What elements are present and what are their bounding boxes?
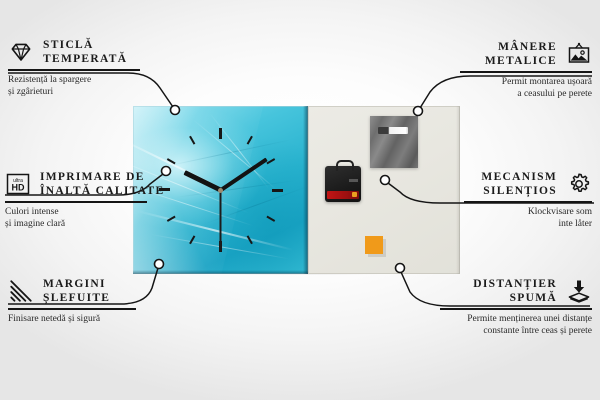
callout-sub-line2: și imagine clară (5, 218, 147, 231)
callout-head: STICLĂ TEMPERATĂ (8, 38, 140, 66)
callout-subtext: Klockvisare som inte låter (464, 206, 592, 231)
callout-sub-line2: inte låter (464, 218, 592, 231)
callout-title: MÂNERE METALICE (485, 40, 557, 68)
hanger-slot (378, 127, 408, 134)
foam-spacer-pad (365, 236, 383, 254)
callout-title-line1: DISTANȚIER (440, 277, 557, 291)
callout-sub-line1: Culori intense (5, 206, 147, 219)
callout-title: IMPRIMARE DE ÎNALTĂ CALITATE (40, 170, 164, 198)
callout-divider (460, 71, 592, 73)
callout-title-line1: STICLĂ (43, 38, 127, 52)
callout-title-line1: MARGINI (43, 277, 110, 291)
hanging-picture-frame-icon (566, 41, 592, 67)
callout-head: MECANISM SILENȚIOS (464, 170, 592, 198)
clock-movement (325, 166, 361, 202)
callout-sub-line1: Permite menținerea unei distanțe (440, 313, 592, 326)
callout-title-line1: IMPRIMARE DE (40, 170, 164, 184)
product-photo (133, 106, 460, 274)
callout-tempered-glass: STICLĂ TEMPERATĂ Rezistență la spargere … (8, 38, 140, 99)
callout-head: MARGINI ȘLEFUITE (8, 277, 136, 305)
callout-subtext: Permite menținerea unei distanțe constan… (440, 313, 592, 338)
callout-polished-edges: MARGINI ȘLEFUITE Finisare netedă și sigu… (8, 277, 136, 325)
battery (327, 191, 359, 199)
clock-center-cap (218, 188, 223, 193)
callout-silent-mechanism: MECANISM SILENȚIOS Klockvisare som inte … (464, 170, 592, 231)
down-arrow-onto-pad-icon (566, 278, 592, 304)
callout-title-line2: SPUMĂ (440, 291, 557, 305)
ultra-hd-icon: ultra HD (5, 171, 31, 197)
battery-terminal (352, 192, 357, 197)
product-infographic: STICLĂ TEMPERATĂ Rezistență la spargere … (0, 0, 600, 400)
hanging-loop (336, 160, 354, 171)
callout-subtext: Rezistență la spargere și zgârieturi (8, 74, 140, 99)
clock-second-hand (220, 190, 222, 252)
callout-foam-spacer: DISTANȚIER SPUMĂ Permite menținerea unei… (440, 277, 592, 338)
diamond-icon (8, 39, 34, 65)
callout-head: DISTANȚIER SPUMĂ (440, 277, 592, 305)
callout-divider (8, 308, 136, 310)
callout-head: ultra HD IMPRIMARE DE ÎNALTĂ CALITATE (5, 170, 147, 198)
callout-head: MÂNERE METALICE (460, 40, 592, 68)
callout-divider (440, 308, 592, 310)
callout-subtext: Culori intense și imagine clară (5, 206, 147, 231)
clock-back-panel (308, 106, 460, 274)
diagonal-stripes-icon (8, 278, 34, 304)
callout-title-line2: TEMPERATĂ (43, 52, 127, 66)
callout-title: DISTANȚIER SPUMĂ (440, 277, 557, 305)
callout-metal-handles: MÂNERE METALICE Permit montarea ușoară a… (460, 40, 592, 101)
callout-high-quality-print: ultra HD IMPRIMARE DE ÎNALTĂ CALITATE Cu… (5, 170, 147, 231)
callout-title-line1: MÂNERE (485, 40, 557, 54)
callout-title: MECANISM SILENȚIOS (481, 170, 557, 198)
callout-title-line2: ÎNALTĂ CALITATE (40, 184, 164, 198)
gear-icon (566, 171, 592, 197)
movement-label (349, 179, 358, 182)
callout-sub-line2: a ceasului pe perete (460, 88, 592, 101)
callout-subtext: Finisare netedă și sigură (8, 313, 136, 326)
callout-divider (8, 69, 140, 71)
front-panel-bottom-edge (133, 270, 308, 274)
callout-divider (5, 201, 147, 203)
callout-title: STICLĂ TEMPERATĂ (43, 38, 127, 66)
metal-hanger-plate (370, 116, 418, 168)
callout-sub-line1: Klockvisare som (464, 206, 592, 219)
back-panel-edge (456, 106, 460, 274)
callout-subtext: Permit montarea ușoară a ceasului pe per… (460, 76, 592, 101)
callout-sub-line1: Permit montarea ușoară (460, 76, 592, 89)
callout-sub-line1: Rezistență la spargere (8, 74, 140, 87)
svg-text:HD: HD (12, 183, 25, 193)
callout-title-line2: SILENȚIOS (481, 184, 557, 198)
callout-title-line1: MECANISM (481, 170, 557, 184)
callout-sub-line2: constante între ceas și perete (440, 325, 592, 338)
callout-title: MARGINI ȘLEFUITE (43, 277, 110, 305)
callout-divider (464, 201, 592, 203)
callout-sub-line1: Finisare netedă și sigură (8, 313, 136, 326)
callout-title-line2: METALICE (485, 54, 557, 68)
callout-sub-line2: și zgârieturi (8, 86, 140, 99)
callout-title-line2: ȘLEFUITE (43, 291, 110, 305)
